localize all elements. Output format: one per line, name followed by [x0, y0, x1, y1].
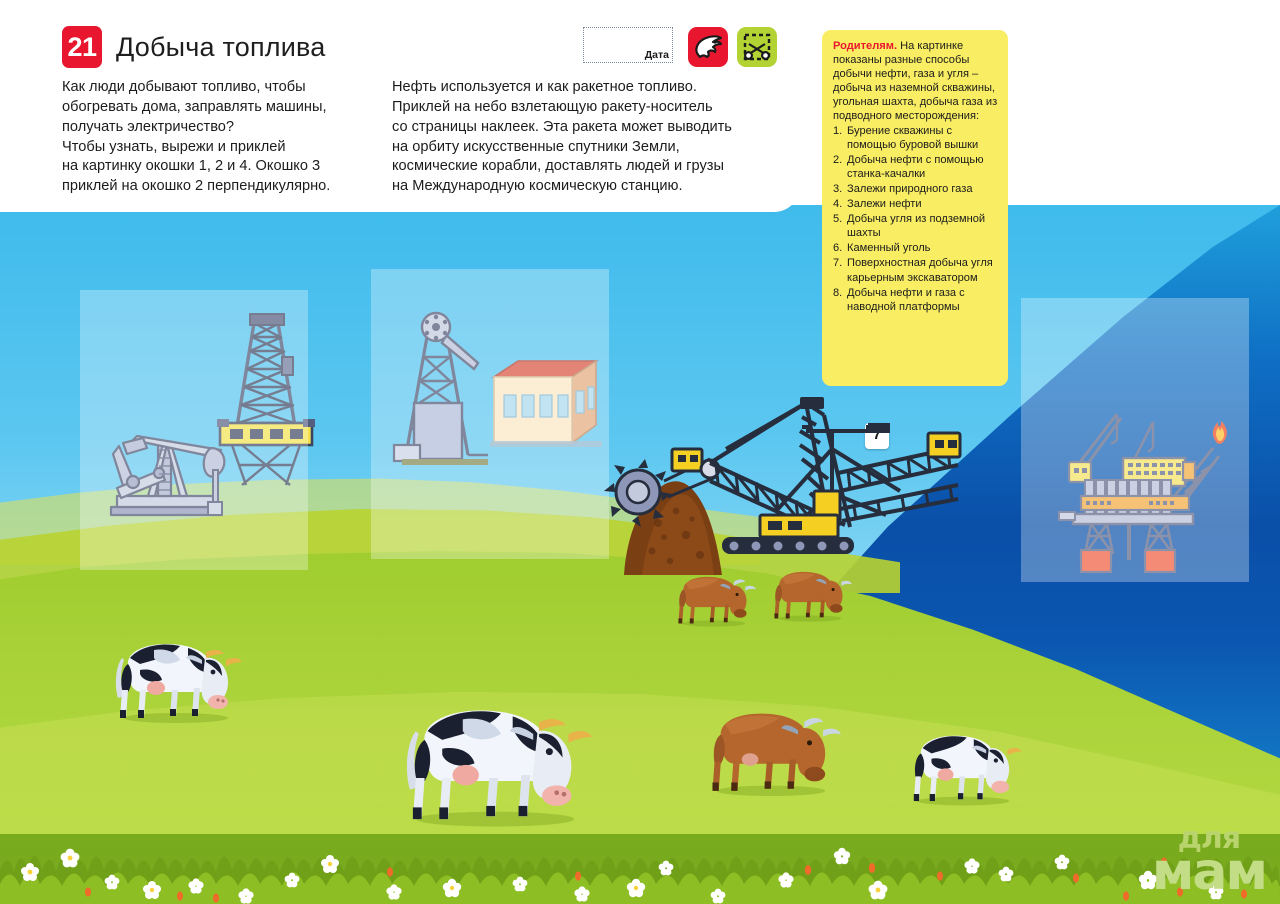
page-title: Добыча топлива — [116, 32, 325, 63]
grass-blades — [0, 820, 1280, 904]
parents-note-box: Родителям. На картинке показаны разные с… — [822, 30, 1008, 386]
date-label: Дата — [584, 49, 672, 61]
parents-intro: Родителям. На картинке показаны разные с… — [833, 39, 998, 123]
parents-list-item: Каменный уголь — [833, 241, 998, 255]
offshore-platform — [1055, 400, 1235, 570]
instructions-right-text: Нефть используется и как ракетное топлив… — [392, 78, 754, 197]
cow-brown-center — [702, 699, 844, 795]
parents-list-item: Добыча угля из подземной шахты — [833, 212, 998, 240]
workbook-page: 6 7 — [0, 0, 1280, 904]
sticker-icon-tile[interactable] — [688, 27, 728, 67]
drilling-rig — [212, 305, 320, 495]
illustration-scene: 6 7 — [0, 205, 1280, 904]
parents-list-item: Добыча нефти с помощью станка-качалки — [833, 153, 998, 181]
cow-holstein-large-center — [398, 690, 598, 825]
parents-list-item: Поверхностная добыча угля карьерным экск… — [833, 256, 998, 284]
walking-dragline-excavator — [610, 397, 960, 557]
parents-list-item: Залежи нефти — [833, 197, 998, 211]
mine-building — [490, 347, 610, 467]
instructions-right-column: Нефть используется и как ракетное топлив… — [392, 78, 754, 197]
cow-brown-right — [768, 563, 854, 621]
grass-border — [0, 820, 1280, 904]
parents-list: Бурение скважины с помощью буровой вышки… — [833, 124, 998, 313]
parents-intro-text: На картинке показаны разные способы добы… — [833, 40, 997, 122]
parents-list-item: Бурение скважины с помощью буровой вышки — [833, 124, 998, 152]
instructions-left-text: Как люди добывают топливо, чтобы обогрев… — [62, 78, 382, 197]
lesson-number-badge: 21 — [62, 26, 102, 68]
sticker-icon — [688, 27, 728, 67]
cut-out-icon-tile[interactable] — [737, 27, 777, 67]
cow-holstein-large-left — [110, 630, 246, 722]
parents-lead-label: Родителям. — [833, 40, 897, 52]
parents-list-item: Добыча нефти и газа с наводной платформы — [833, 286, 998, 314]
instructions-left-column: Как люди добывают топливо, чтобы обогрев… — [62, 78, 382, 197]
parents-list-item: Залежи природного газа — [833, 182, 998, 196]
cow-holstein-right — [905, 723, 1025, 805]
scissors-cut-icon — [737, 27, 777, 67]
title-row: 21 Добыча топлива — [62, 26, 325, 68]
header-panel: 21 Добыча топлива Как люди добывают топл… — [0, 0, 800, 212]
